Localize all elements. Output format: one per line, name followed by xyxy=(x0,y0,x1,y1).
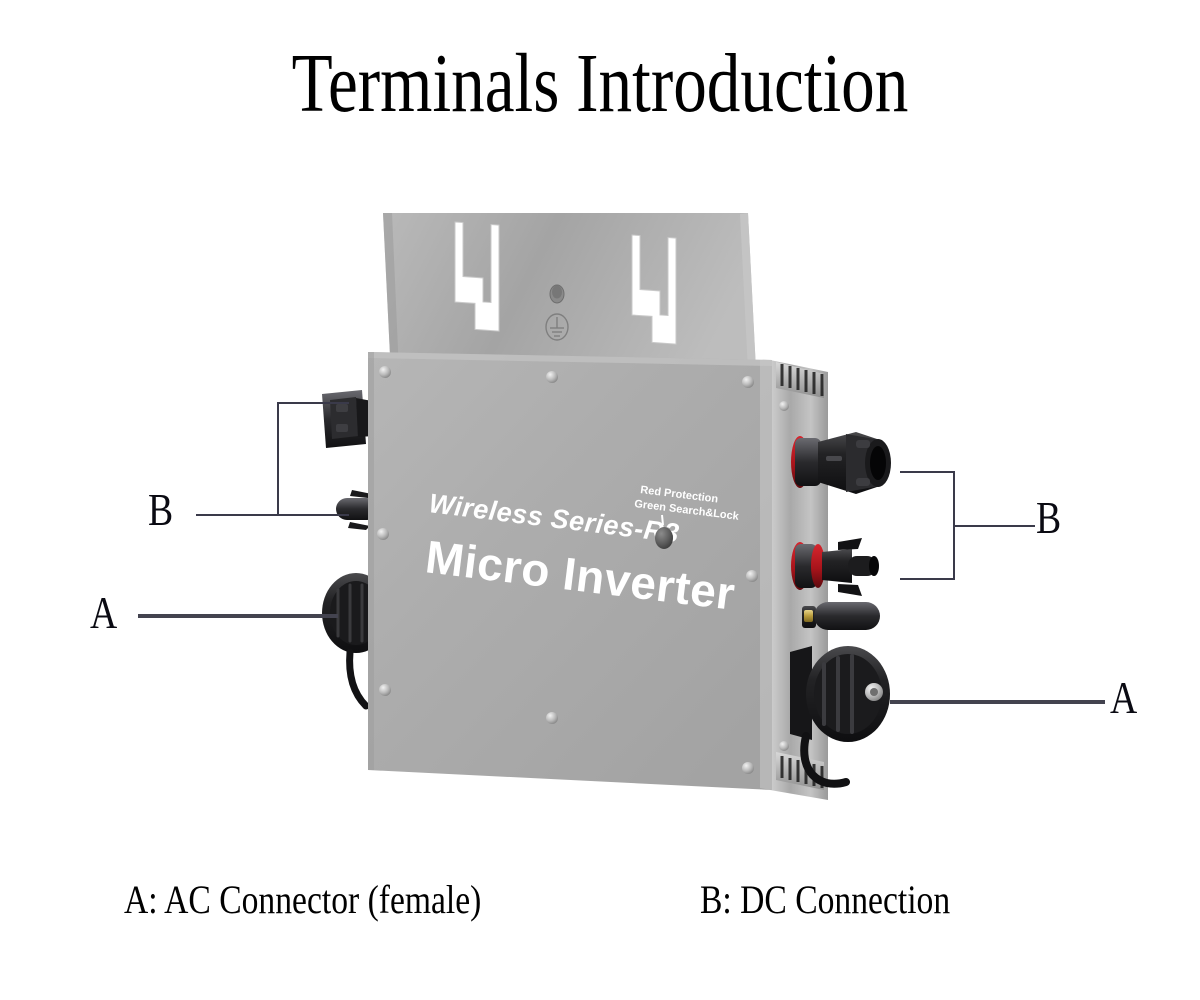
svg-text:Red Protection: Red Protection xyxy=(640,484,719,505)
leader-line-b-right-stem xyxy=(955,525,1035,527)
left-ac-connector xyxy=(322,573,390,706)
heatsink-fins-bottom xyxy=(776,752,824,790)
leader-bracket-b-left-top xyxy=(277,402,349,404)
svg-text:Green Search&Lock: Green Search&Lock xyxy=(634,498,741,523)
led-indicator-group: Red Protection Green Search&Lock xyxy=(634,484,741,549)
micro-inverter-illustration: Wireless Series-R3 Micro Inverter Red Pr… xyxy=(0,0,1200,1000)
leader-bracket-b-left-bottom xyxy=(277,514,349,516)
leader-line-a-left xyxy=(138,614,338,618)
dc-connector-male xyxy=(791,538,879,596)
callout-label-a-left: A xyxy=(90,590,117,636)
legend-b-text: B: DC Connection xyxy=(700,880,950,920)
antenna xyxy=(802,602,880,630)
svg-text:Wireless Series-R3: Wireless Series-R3 xyxy=(427,488,681,548)
ground-symbol xyxy=(546,314,568,340)
face-screws xyxy=(377,366,758,774)
mounting-bracket xyxy=(383,213,756,396)
leader-line-b-left-stem xyxy=(196,514,278,516)
callout-label-b-right: B xyxy=(1036,495,1061,541)
dc-connector-female xyxy=(791,432,891,494)
heatsink-fins-top xyxy=(776,362,824,398)
heatsink-side xyxy=(770,360,828,800)
svg-text:Micro Inverter: Micro Inverter xyxy=(423,530,738,620)
leader-bracket-b-right-spine xyxy=(953,472,955,580)
inverter-body: Wireless Series-R3 Micro Inverter Red Pr… xyxy=(368,352,772,790)
leader-bracket-b-left-spine xyxy=(277,403,279,516)
leader-bracket-b-right-bottom xyxy=(900,578,955,580)
leader-line-a-right xyxy=(890,700,1105,704)
left-dc-connector-upper xyxy=(322,390,374,448)
legend-a-text: A: AC Connector (female) xyxy=(124,880,481,920)
page-title: Terminals Introduction xyxy=(120,42,1080,126)
leader-bracket-b-right-top xyxy=(900,471,955,473)
ac-connector xyxy=(790,646,890,784)
callout-label-a-right: A xyxy=(1110,675,1137,721)
callout-label-b-left: B xyxy=(148,487,173,533)
left-dc-connector-lower xyxy=(336,490,378,530)
device-branding: Wireless Series-R3 Micro Inverter xyxy=(423,488,738,620)
diagram-canvas: Terminals Introduction xyxy=(0,0,1200,1000)
